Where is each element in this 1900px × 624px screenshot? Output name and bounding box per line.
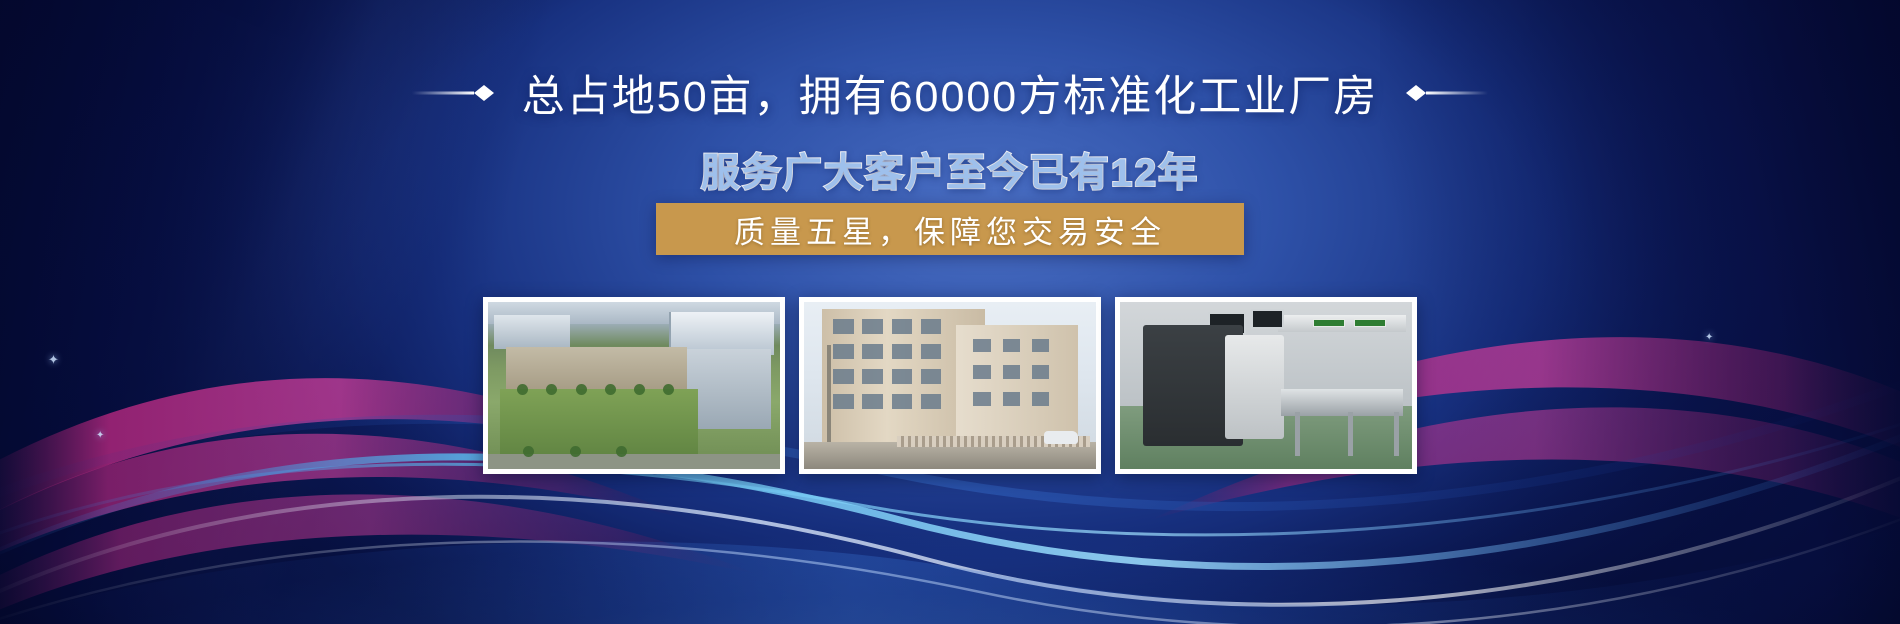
headline-text: 总占地50亩，拥有60000方标准化工业厂房	[522, 62, 1378, 124]
arrow-diamond-right-icon	[412, 82, 496, 104]
photo-office-building[interactable]: 办公大楼	[799, 297, 1101, 474]
banner-content: 总占地50亩，拥有60000方标准化工业厂房 服务广大客户至今已有12年	[0, 0, 1900, 624]
gold-bar-text: 质量五星，保障您交易安全	[734, 207, 1166, 252]
promo-banner: ✦ ✦ ✦ ✦ 总占地50亩，拥有60000方标准化工业厂房	[0, 0, 1900, 624]
arrow-diamond-left-icon	[1404, 82, 1488, 104]
photo-smt-production-line[interactable]: SMT生产设备	[1115, 297, 1417, 474]
subline-text: 服务广大客户至今已有12年	[701, 152, 1199, 195]
photo-image	[488, 302, 780, 469]
gold-highlight-bar: 质量五星，保障您交易安全	[656, 203, 1244, 255]
photo-aerial-factory-campus[interactable]: 厂区鸟瞰图	[483, 297, 785, 474]
headline-row: 总占地50亩，拥有60000方标准化工业厂房	[0, 62, 1900, 124]
photo-gallery: 厂区鸟瞰图	[483, 297, 1417, 474]
photo-image	[804, 302, 1096, 469]
subline-row: 服务广大客户至今已有12年	[0, 142, 1900, 198]
photo-image	[1120, 302, 1412, 469]
